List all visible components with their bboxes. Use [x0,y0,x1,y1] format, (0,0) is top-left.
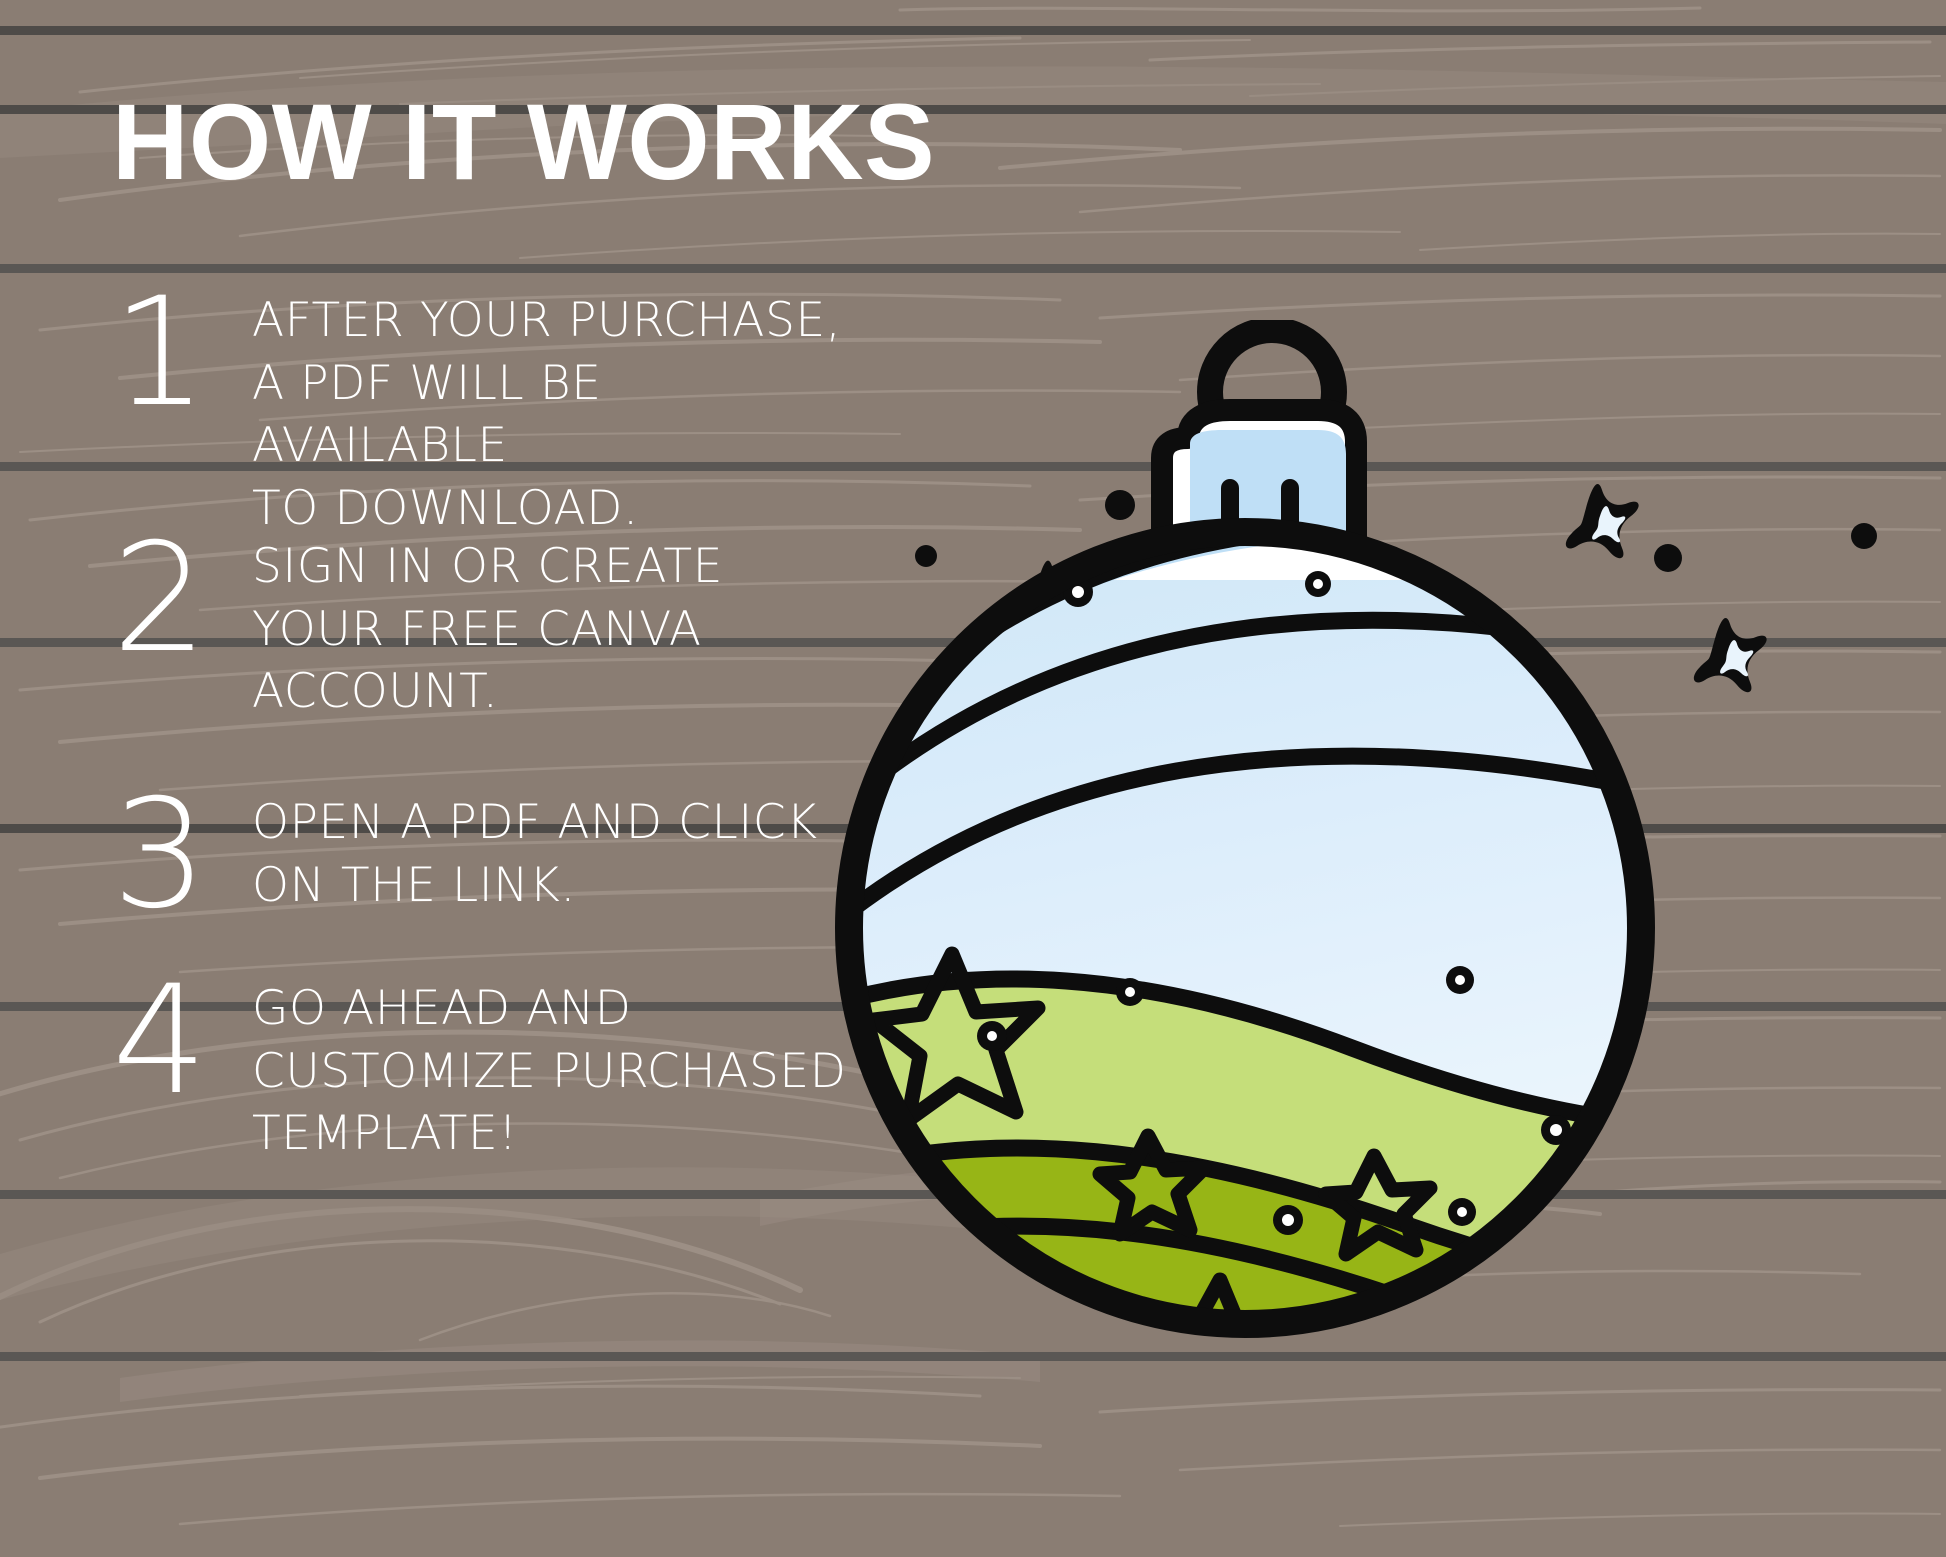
step-text-2: SIGN IN OR CREATE YOUR FREE CANVA ACCOUN… [252,530,872,724]
step-number-4: 4 [112,972,252,1110]
step-item-3: 3 OPEN A PDF AND CLICK ON THE LINK. [112,786,872,924]
step-text-1: AFTER YOUR PURCHASE, A PDF WILL BE AVAIL… [252,284,872,540]
dot-upper-left [1105,490,1135,520]
content-column: HOW IT WORKS 1 AFTER YOUR PURCHASE, A PD… [0,0,900,1557]
step-text-3: OPEN A PDF AND CLICK ON THE LINK. [252,786,872,917]
poster-canvas: HOW IT WORKS 1 AFTER YOUR PURCHASE, A PD… [0,0,1946,1557]
christmas-ornament-illustration [790,320,1946,1390]
step-item-4: 4 GO AHEAD AND CUSTOMIZE PURCHASED TEMPL… [112,972,872,1166]
sparkle-top-right [1566,484,1639,558]
step-text-4: GO AHEAD AND CUSTOMIZE PURCHASED TEMPLAT… [252,972,872,1166]
step-item-1: 1 AFTER YOUR PURCHASE, A PDF WILL BE AVA… [112,284,872,540]
dot-right [1654,544,1682,572]
dot-far-right [1851,523,1877,549]
page-title: HOW IT WORKS [112,88,935,196]
step-number-3: 3 [112,786,252,924]
step-item-2: 2 SIGN IN OR CREATE YOUR FREE CANVA ACCO… [112,530,872,724]
sparkle-right [1694,618,1767,692]
step-number-1: 1 [112,284,252,422]
step-number-2: 2 [112,530,252,668]
dot-left [915,545,937,567]
